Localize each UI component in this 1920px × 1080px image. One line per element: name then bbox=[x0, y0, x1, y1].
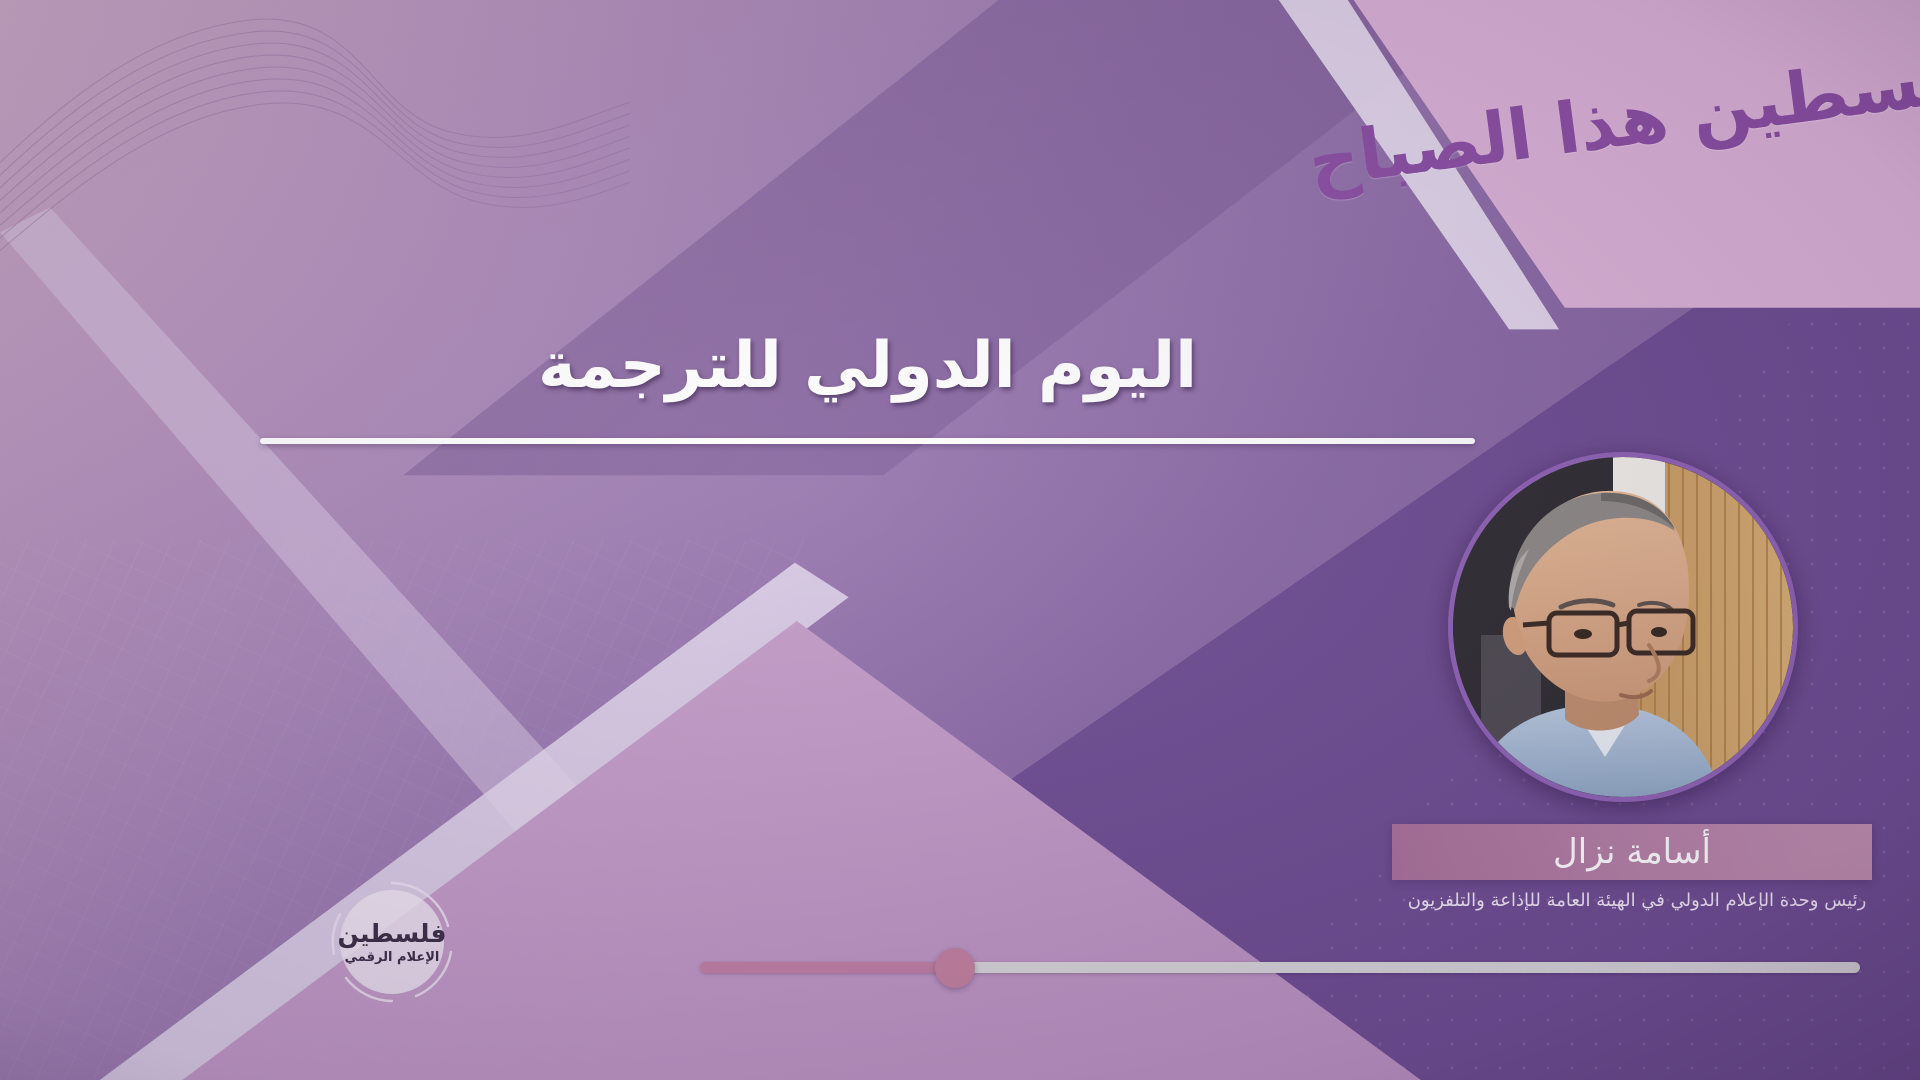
player-progress-fill bbox=[700, 962, 955, 973]
watermark-line-2: الإعلام الرقمي bbox=[345, 951, 440, 964]
player-progress-bar[interactable] bbox=[700, 962, 1860, 973]
watermark-line-1: فلسطين bbox=[337, 921, 446, 946]
headline-block: اليوم الدولي للترجمة bbox=[260, 330, 1475, 444]
headline-divider bbox=[260, 438, 1475, 444]
channel-watermark-badge: فلسطين الإعلام الرقمي bbox=[330, 880, 454, 1004]
guest-name: أسامة نزال bbox=[1553, 832, 1711, 872]
guest-name-plate: أسامة نزال bbox=[1392, 824, 1872, 880]
guest-role-line: رئيس وحدة الإعلام الدولي في الهيئة العام… bbox=[1392, 890, 1882, 911]
guest-role: رئيس وحدة الإعلام الدولي في الهيئة العام… bbox=[1408, 890, 1867, 911]
headline-text: اليوم الدولي للترجمة bbox=[260, 330, 1475, 404]
player-progress-handle[interactable] bbox=[935, 948, 975, 988]
guest-avatar bbox=[1448, 452, 1798, 802]
badge-core: فلسطين الإعلام الرقمي bbox=[340, 890, 444, 994]
wave-lines-decoration bbox=[0, 0, 630, 292]
avatar-portrait-icon bbox=[1453, 457, 1793, 797]
broadcast-frame: فلسطين هذا الصباح اليوم الدولي للترجمة bbox=[0, 0, 1920, 1080]
